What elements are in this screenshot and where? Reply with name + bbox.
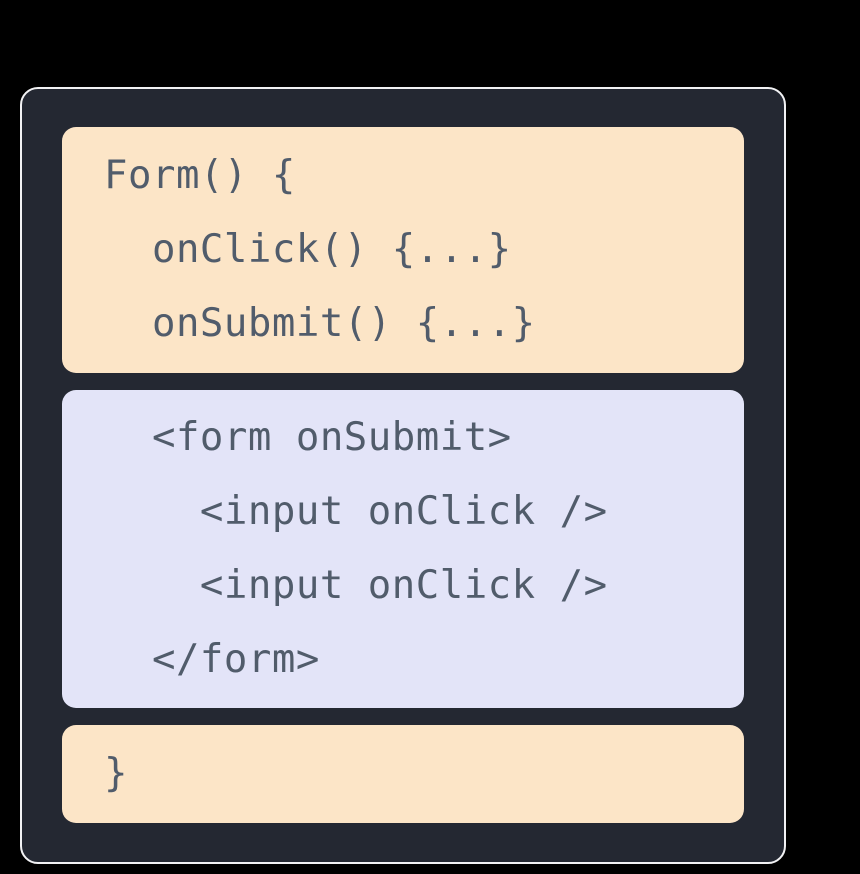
diagram-canvas: Form() { onClick() {...} onSubmit() {...…: [0, 0, 860, 874]
code-line: onClick() {...}: [62, 213, 744, 287]
code-line: onSubmit() {...}: [62, 287, 744, 361]
code-panel-form-jsx-markup: <form onSubmit> <input onClick /> <input…: [62, 390, 744, 708]
code-line: Form() {: [62, 139, 744, 213]
code-panel-form-function-open: Form() { onClick() {...} onSubmit() {...…: [62, 127, 744, 373]
code-line: <input onClick />: [62, 549, 744, 623]
component-card: Form() { onClick() {...} onSubmit() {...…: [20, 87, 786, 864]
code-line: <form onSubmit>: [62, 401, 744, 475]
code-line: <input onClick />: [62, 475, 744, 549]
code-panel-form-function-close: }: [62, 725, 744, 823]
code-line: </form>: [62, 623, 744, 697]
code-line: }: [62, 737, 744, 811]
